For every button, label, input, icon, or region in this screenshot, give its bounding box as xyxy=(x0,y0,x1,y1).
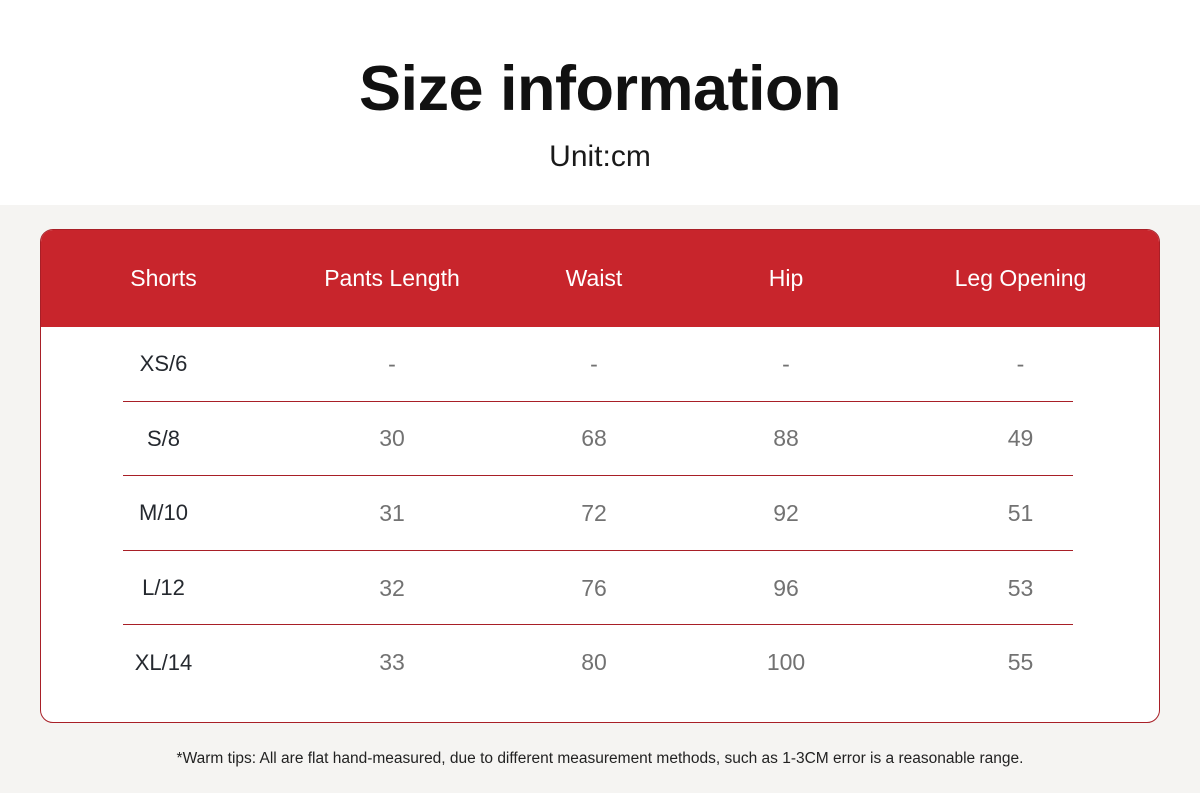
cell-leg-opening: 53 xyxy=(882,577,1159,600)
cell-hip: - xyxy=(690,353,882,376)
cell-pants-length: 32 xyxy=(286,577,498,600)
cell-hip: 100 xyxy=(690,651,882,674)
row-size-label: L/12 xyxy=(41,577,286,599)
table-row: S/8 30 68 88 49 xyxy=(41,402,1159,477)
cell-leg-opening: - xyxy=(882,353,1159,376)
table-row: XS/6 - - - - xyxy=(41,327,1159,402)
cell-pants-length: 30 xyxy=(286,427,498,450)
unit-subtitle: Unit:cm xyxy=(0,142,1200,172)
cell-pants-length: 31 xyxy=(286,502,498,525)
cell-pants-length: - xyxy=(286,353,498,376)
table-row: M/10 31 72 92 51 xyxy=(41,476,1159,551)
table-row: XL/14 33 80 100 55 xyxy=(41,625,1159,700)
cell-hip: 92 xyxy=(690,502,882,525)
column-header-pants-length: Pants Length xyxy=(286,267,498,290)
row-size-label: S/8 xyxy=(41,428,286,450)
cell-leg-opening: 51 xyxy=(882,502,1159,525)
table-row: L/12 32 76 96 53 xyxy=(41,551,1159,626)
cell-hip: 88 xyxy=(690,427,882,450)
column-header-shorts: Shorts xyxy=(41,267,286,290)
warm-tips-note: *Warm tips: All are flat hand-measured, … xyxy=(0,751,1200,767)
cell-waist: 68 xyxy=(498,427,690,450)
column-header-hip: Hip xyxy=(690,267,882,290)
row-size-label: M/10 xyxy=(41,502,286,524)
page-title: Size information xyxy=(0,58,1200,121)
column-header-leg-opening: Leg Opening xyxy=(882,267,1159,290)
size-chart-card: Shorts Pants Length Waist Hip Leg Openin… xyxy=(40,229,1160,723)
table-body: XS/6 - - - - S/8 30 68 88 49 M/10 31 72 … xyxy=(41,327,1159,700)
cell-waist: - xyxy=(498,353,690,376)
row-size-label: XS/6 xyxy=(41,353,286,375)
cell-waist: 72 xyxy=(498,502,690,525)
cell-waist: 80 xyxy=(498,651,690,674)
column-header-waist: Waist xyxy=(498,267,690,290)
title-band: Size information Unit:cm xyxy=(0,0,1200,205)
row-size-label: XL/14 xyxy=(41,652,286,674)
table-header-row: Shorts Pants Length Waist Hip Leg Openin… xyxy=(41,230,1159,327)
cell-waist: 76 xyxy=(498,577,690,600)
cell-leg-opening: 49 xyxy=(882,427,1159,450)
cell-hip: 96 xyxy=(690,577,882,600)
cell-leg-opening: 55 xyxy=(882,651,1159,674)
cell-pants-length: 33 xyxy=(286,651,498,674)
